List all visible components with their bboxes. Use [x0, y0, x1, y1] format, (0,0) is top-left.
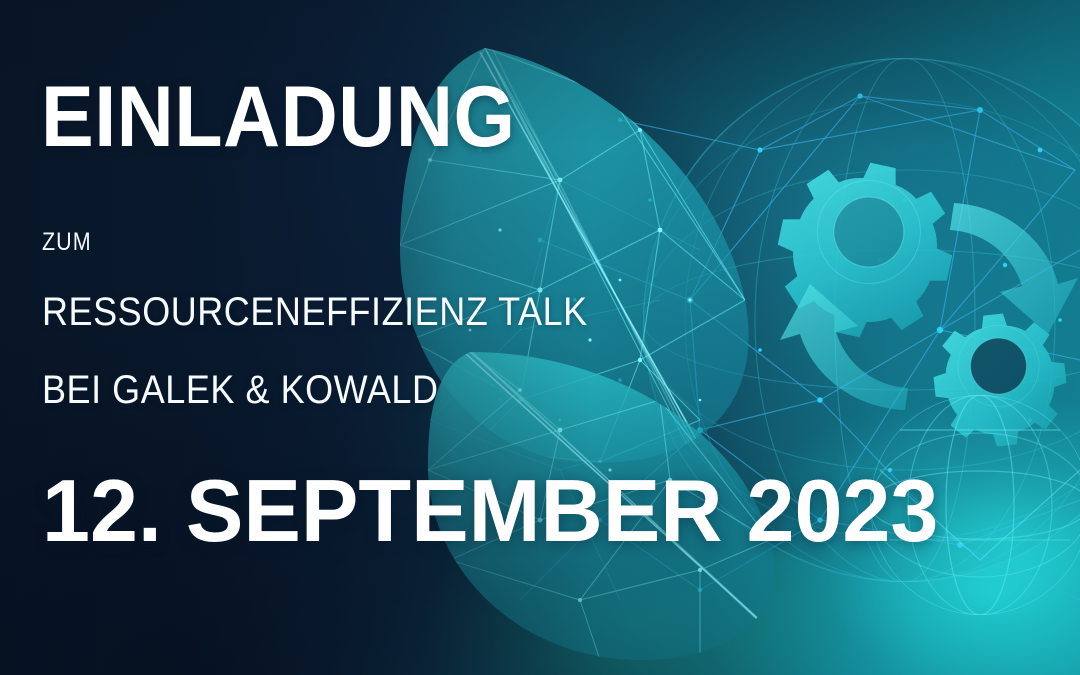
kicker-label: ZUM [42, 228, 92, 257]
event-title-line-1: RESSOURCENEFFIZIENZ TALK [42, 290, 588, 335]
event-date: 12. SEPTEMBER 2023 [42, 467, 938, 555]
text-content: EINLADUNG ZUM RESSOURCENEFFIZIENZ TALK B… [0, 0, 1080, 675]
event-host-line-2: BEI GALEK & KOWALD [42, 368, 439, 413]
page-title: EINLADUNG [41, 74, 515, 160]
invitation-banner: EINLADUNG ZUM RESSOURCENEFFIZIENZ TALK B… [0, 0, 1080, 675]
